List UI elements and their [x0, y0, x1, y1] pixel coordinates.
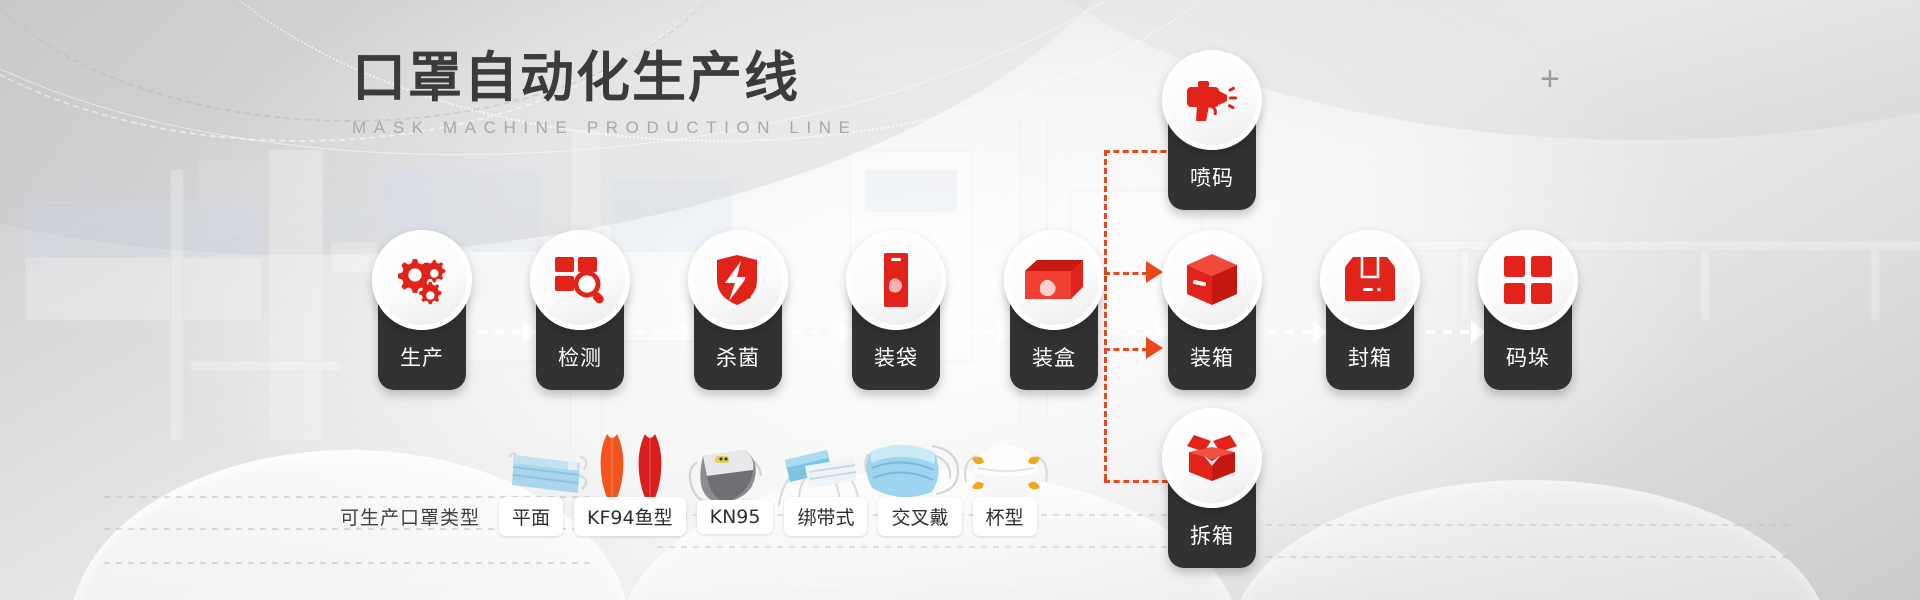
mask-type-chip-kn95[interactable]: KN95	[697, 500, 774, 534]
mask-watermark-right	[1230, 480, 1830, 600]
step-label: 杀菌	[694, 342, 782, 372]
open-box-icon	[1162, 408, 1262, 508]
machinery-silhouette-conveyor	[1400, 200, 1920, 320]
branch-line-to-unbox	[1104, 480, 1168, 483]
title-block: 口罩自动化生产线 MASK MACHINE PRODUCTION LINE	[352, 48, 858, 138]
step-label: 码垛	[1484, 342, 1572, 372]
mask-types-row: 可生产口罩类型 平面 KF94鱼型 KN95 绑带式 交叉戴 杯型	[340, 497, 1037, 536]
mask-type-chip-cup[interactable]: 杯型	[973, 497, 1037, 536]
magnifier-inspection-icon	[530, 230, 630, 330]
connector-7	[1426, 330, 1486, 334]
page-title: 口罩自动化生产线	[352, 48, 858, 108]
production-line-banner: + 口罩自动化生产线 MASK MACHINE PRODUCTION LINE	[0, 0, 1920, 600]
branch-arrow-lower-icon	[1146, 337, 1163, 359]
step-label: 封箱	[1326, 342, 1414, 372]
step-label: 装袋	[852, 342, 940, 372]
step-label: 喷码	[1168, 162, 1256, 192]
shield-sterilize-icon	[688, 230, 788, 330]
mask-types-label: 可生产口罩类型	[340, 503, 480, 530]
connector-2	[636, 330, 696, 334]
step-label: 拆箱	[1168, 520, 1256, 550]
connector-3	[794, 330, 854, 334]
connector-1	[478, 330, 538, 334]
boxing-carton-icon	[1004, 230, 1104, 330]
connector-5	[1110, 330, 1170, 334]
sealed-carton-icon	[1320, 230, 1420, 330]
connector-4	[952, 330, 1012, 334]
branch-line-to-case-upper	[1104, 272, 1148, 275]
connector-6	[1268, 330, 1328, 334]
step-label: 生产	[378, 342, 466, 372]
mask-type-chip-flat[interactable]: 平面	[499, 497, 563, 536]
cube-case-icon	[1162, 230, 1262, 330]
step-label: 装盒	[1010, 342, 1098, 372]
step-label: 检测	[536, 342, 624, 372]
branch-line-to-case-lower	[1104, 348, 1148, 351]
palletizing-grid-icon	[1478, 230, 1578, 330]
mask-type-chip-kf94[interactable]: KF94鱼型	[574, 497, 686, 536]
background-swoop-2	[940, 0, 1920, 140]
inkjet-spray-gun-icon	[1162, 50, 1262, 150]
mask-type-chip-tieon[interactable]: 绑带式	[784, 497, 867, 536]
step-label: 装箱	[1168, 342, 1256, 372]
branch-vertical-line	[1104, 150, 1107, 480]
plus-decor-icon: +	[1540, 62, 1560, 96]
bagging-icon	[846, 230, 946, 330]
mask-type-chip-cross[interactable]: 交叉戴	[878, 497, 961, 536]
gears-icon	[372, 230, 472, 330]
branch-arrow-upper-icon	[1146, 261, 1163, 283]
page-subtitle: MASK MACHINE PRODUCTION LINE	[352, 118, 858, 138]
